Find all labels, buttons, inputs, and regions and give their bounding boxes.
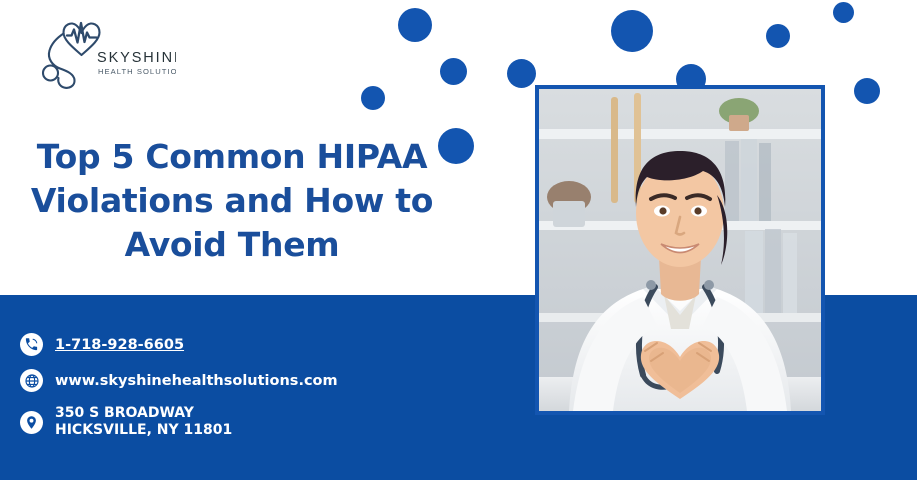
contact-phone-row[interactable]: 1-718-928-6605 [20,333,440,356]
address-line-2: HICKSVILLE, NY 11801 [55,422,232,439]
decorative-dot [440,58,467,85]
brand-logo: SKYSHINE HEALTH SOLUTIONS [26,12,176,90]
phone-number[interactable]: 1-718-928-6605 [55,336,184,354]
headline-line-2: Violations and How to [22,179,442,223]
contact-address-row: 350 S BROADWAY HICKSVILLE, NY 11801 [20,405,440,439]
decorative-dot [833,2,854,23]
page-title: Top 5 Common HIPAA Violations and How to… [22,135,442,267]
address-line-1: 350 S BROADWAY [55,405,232,422]
location-pin-icon [20,411,43,434]
phone-icon [20,333,43,356]
address-text: 350 S BROADWAY HICKSVILLE, NY 11801 [55,405,232,439]
decorative-dot [398,8,432,42]
stethoscope-heart-ecg-icon: SKYSHINE HEALTH SOLUTIONS [26,12,176,90]
marketing-banner: SKYSHINE HEALTH SOLUTIONS Top 5 Common H… [0,0,917,480]
brand-tagline: HEALTH SOLUTIONS [98,67,176,76]
decorative-dot [438,128,474,164]
decorative-dot [611,10,653,52]
decorative-dot [361,86,385,110]
globe-icon [20,369,43,392]
doctor-photo-illustration [539,89,821,411]
doctor-photo-frame [535,85,825,415]
headline-line-1: Top 5 Common HIPAA [22,135,442,179]
decorative-dot [854,78,880,104]
headline-line-3: Avoid Them [22,223,442,267]
contact-info: 1-718-928-6605 www.skyshinehealthsolutio… [20,333,440,439]
decorative-dot [766,24,790,48]
website-url[interactable]: www.skyshinehealthsolutions.com [55,372,338,390]
contact-website-row[interactable]: www.skyshinehealthsolutions.com [20,369,440,392]
decorative-dot [507,59,536,88]
doctor-photo [539,89,821,411]
brand-name: SKYSHINE [97,50,176,66]
